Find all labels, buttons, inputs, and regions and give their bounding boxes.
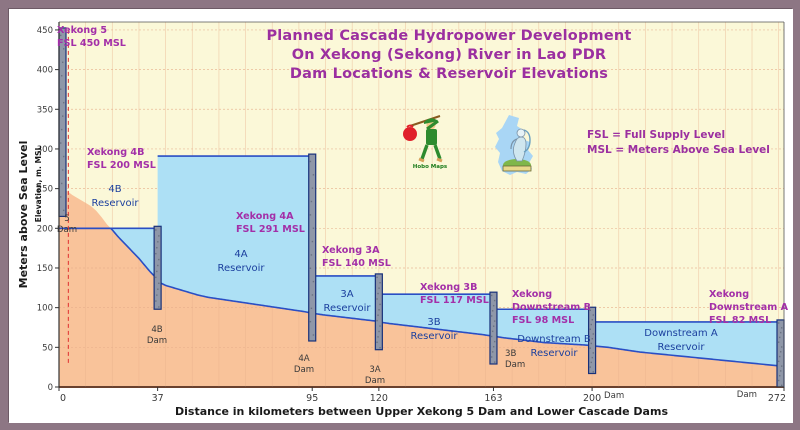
- y-tick-label: 0: [48, 383, 53, 393]
- dam-name-label: Xekong 3B: [420, 282, 477, 293]
- cascade-profile-chart: 0501001502002503003504004500379512016320…: [9, 9, 793, 423]
- dam-body-3A: [375, 274, 382, 350]
- dam-base-label-DSB: Dam: [604, 391, 624, 401]
- bindle-sack-icon: [403, 127, 417, 141]
- dam-word: Dam: [737, 390, 757, 400]
- y-tick-label: 50: [42, 343, 53, 353]
- chart-title: Planned Cascade Hydropower DevelopmentOn…: [266, 28, 631, 82]
- hiker-body-icon: [426, 129, 437, 145]
- dam-fsl-label: FSL 117 MSL: [420, 295, 489, 306]
- reservoir-word: Reservoir: [323, 303, 371, 314]
- dam-word: Dam: [505, 360, 525, 370]
- x-tick-label: 0: [60, 393, 66, 404]
- x-axis-title: Distance in kilometers between Upper Xek…: [175, 405, 668, 418]
- dam-fsl-label: FSL 291 MSL: [236, 224, 305, 235]
- y-tick-label: 150: [37, 264, 53, 274]
- x-tick-label: 200: [583, 393, 601, 404]
- dam-short-id: 5: [64, 214, 69, 224]
- x-tick-label: 272: [768, 393, 786, 404]
- dam-name-label: Xekong: [512, 289, 552, 300]
- reservoir-word: Reservoir: [410, 331, 458, 342]
- dam-3A[interactable]: [375, 274, 382, 350]
- reservoir-name: Downstream B: [517, 334, 591, 345]
- dam-name-label-2: Downstream A: [709, 302, 789, 313]
- title-line-3: Dam Locations & Reservoir Elevations: [290, 66, 608, 82]
- reservoir-name: 4A: [234, 249, 247, 260]
- y-tick-label: 450: [37, 26, 53, 36]
- reservoir-word: Reservoir: [530, 348, 578, 359]
- reservoir-word: Reservoir: [217, 263, 265, 274]
- reservoir-name: 3B: [427, 317, 440, 328]
- title-line-1: Planned Cascade Hydropower Development: [266, 28, 631, 44]
- dam-short-id: 4B: [151, 325, 162, 335]
- legend-fsl: FSL = Full Supply Level: [587, 129, 725, 141]
- x-tick-label: 120: [370, 393, 388, 404]
- dam-word: Dam: [365, 376, 385, 386]
- dam-word: Dam: [294, 365, 314, 375]
- dam-3B[interactable]: [490, 292, 497, 364]
- dam-4A[interactable]: [309, 154, 316, 341]
- x-tick-label: 37: [152, 393, 164, 404]
- dam-body-4A: [309, 154, 316, 341]
- x-tick-label: 163: [484, 393, 502, 404]
- dam-name-label: Xekong 5: [57, 25, 107, 36]
- title-line-2: On Xekong (Sekong) River in Lao PDR: [292, 47, 607, 63]
- reservoir-word: Reservoir: [91, 198, 139, 209]
- chart-frame: 0501001502002503003504004500379512016320…: [8, 8, 792, 422]
- dam-name-label: Xekong: [709, 289, 749, 300]
- reservoir-name: Downstream A: [644, 328, 718, 339]
- y-tick-label: 100: [37, 304, 53, 314]
- dam-fsl-label: FSL 98 MSL: [512, 315, 574, 326]
- dam-word: Dam: [57, 225, 77, 235]
- legend-msl: MSL = Meters Above Sea Level: [587, 144, 770, 156]
- dam-short-id: 3A: [369, 365, 380, 375]
- reservoir-word: Reservoir: [657, 342, 705, 353]
- dam-fsl-label: FSL 82 MSL: [709, 315, 771, 326]
- dam-word: Dam: [147, 336, 167, 346]
- dam-4B[interactable]: [154, 226, 161, 309]
- dam-body-DSA: [777, 320, 784, 387]
- y-axis-subtitle: Elevation, m. MSL: [34, 145, 43, 222]
- dam-body-3B: [490, 292, 497, 364]
- dam-DSA[interactable]: [777, 320, 784, 387]
- dam-name-label: Xekong 4B: [87, 147, 144, 158]
- y-tick-label: 200: [37, 224, 53, 234]
- dam-short-id: 4A: [298, 354, 309, 364]
- dam-name-label: Xekong 4A: [236, 211, 294, 222]
- dam-base-label-DSA: Dam: [737, 390, 757, 400]
- y-tick-label: 350: [37, 105, 53, 115]
- dam-fsl-label: FSL 200 MSL: [87, 160, 156, 171]
- dam-word: Dam: [604, 391, 624, 401]
- dam-name-label-2: Downstream B: [512, 302, 591, 313]
- dam-body-5: [59, 28, 66, 216]
- statue-head-icon: [517, 129, 525, 137]
- hobo-maps-label: Hobo Maps: [413, 164, 448, 170]
- y-tick-label: 400: [37, 66, 53, 76]
- dam-name-label: Xekong 3A: [322, 245, 380, 256]
- dam-5[interactable]: [59, 28, 66, 216]
- dam-body-4B: [154, 226, 161, 309]
- y-axis-title: Meters above Sea Level: [17, 141, 30, 289]
- chart-plot-area: 0501001502002503003504004500379512016320…: [9, 9, 793, 423]
- reservoir-name: 3A: [340, 289, 353, 300]
- reservoir-name: 4B: [108, 184, 121, 195]
- dam-fsl-label: FSL 140 MSL: [322, 258, 391, 269]
- dam-fsl-label: FSL 450 MSL: [57, 38, 126, 49]
- x-tick-label: 95: [306, 393, 318, 404]
- dam-short-id: 3B: [505, 349, 516, 359]
